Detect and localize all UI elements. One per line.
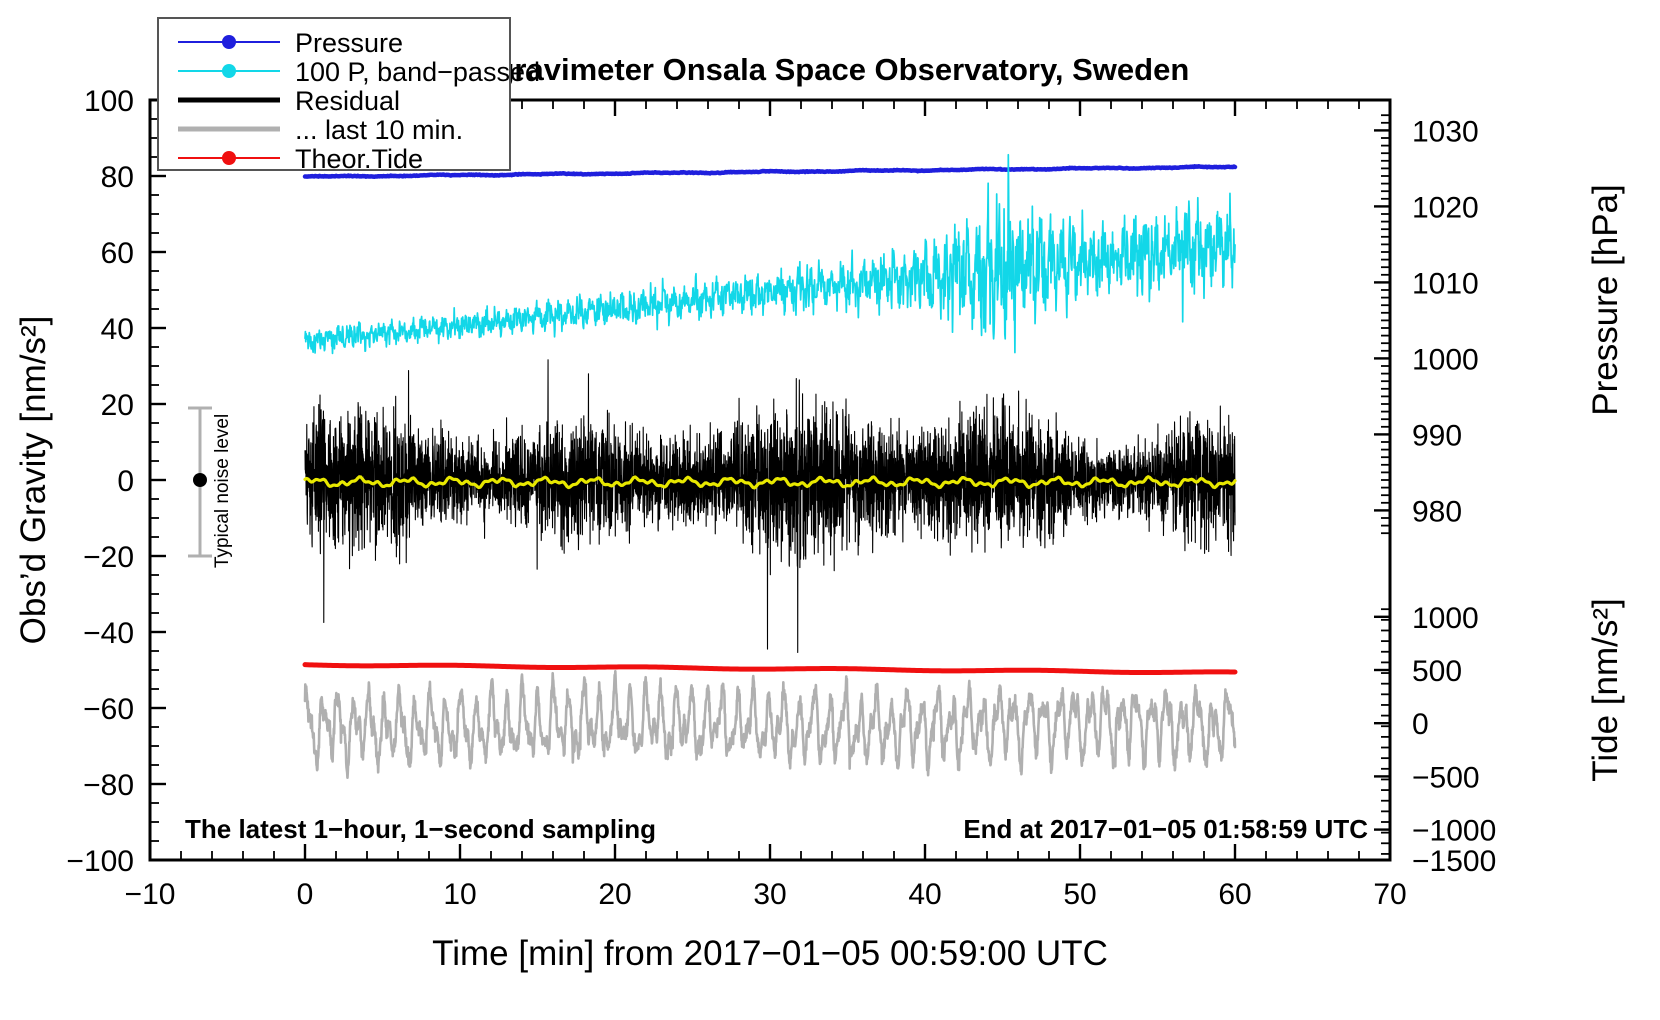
x-tick-label: 50 <box>1063 878 1096 911</box>
tide-axis-title: Tide [nm/s²] <box>1586 598 1625 781</box>
y-tick-label: −40 <box>83 617 134 650</box>
pressure-tick-label: 1030 <box>1412 115 1479 148</box>
y-tick-label: 100 <box>84 85 134 118</box>
y-tick-label: 0 <box>117 465 134 498</box>
gravimeter-chart-figure: −10010203040506070 100806040200−20−40−60… <box>0 0 1660 1020</box>
tide-tick-label: 0 <box>1412 708 1429 741</box>
noise-center-dot <box>193 473 207 487</box>
legend-item-label: Theor.Tide <box>295 144 423 174</box>
y-axis-title: Obs’d Gravity [nm/s²] <box>14 316 53 645</box>
legend-item-label: ... last 10 min. <box>295 115 463 145</box>
pressure-tick-label: 980 <box>1412 495 1462 528</box>
tide-tick-label: 500 <box>1412 655 1462 688</box>
y-tick-label: −60 <box>83 693 134 726</box>
x-tick-label: 0 <box>297 878 314 911</box>
chart-canvas: −10010203040506070 100806040200−20−40−60… <box>0 0 1660 1020</box>
x-tick-label: 20 <box>598 878 631 911</box>
legend-item-label: Pressure <box>295 28 403 58</box>
noise-annotation-label: Typical noise level <box>212 414 233 568</box>
x-tick-label: 60 <box>1218 878 1251 911</box>
y-tick-label: 80 <box>101 161 134 194</box>
x-axis-title: Time [min] from 2017−01−05 00:59:00 UTC <box>432 934 1108 973</box>
legend-swatch-marker <box>222 35 236 49</box>
tide-tick-label: −1000 <box>1412 815 1496 848</box>
pressure-axis-title: Pressure [hPa] <box>1586 184 1625 416</box>
y-tick-label: −100 <box>66 845 134 878</box>
y-tick-label: 40 <box>101 313 134 346</box>
y-tick-label: −80 <box>83 769 134 802</box>
x-tick-label: −10 <box>125 878 176 911</box>
x-tick-label: 70 <box>1373 878 1406 911</box>
legend-item-label: Residual <box>295 86 400 116</box>
y-tick-label: 60 <box>101 237 134 270</box>
chart-legend[interactable]: Pressure100 P, band−passedResidual... la… <box>158 18 540 174</box>
footer-left-text: The latest 1−hour, 1−second sampling <box>185 814 656 844</box>
tide-tick-label: −1500 <box>1412 845 1496 878</box>
x-tick-label: 10 <box>443 878 476 911</box>
tide-tick-label: 1000 <box>1412 602 1479 635</box>
pressure-tick-label: 1000 <box>1412 343 1479 376</box>
y-tick-label: 20 <box>101 389 134 422</box>
footer-right-text: End at 2017−01−05 01:58:59 UTC <box>963 814 1368 844</box>
x-tick-label: 30 <box>753 878 786 911</box>
y-tick-label: −20 <box>83 541 134 574</box>
legend-swatch-marker <box>222 64 236 78</box>
pressure-tick-label: 1020 <box>1412 191 1479 224</box>
x-tick-label: 40 <box>908 878 941 911</box>
pressure-tick-label: 1010 <box>1412 267 1479 300</box>
legend-item-label: 100 P, band−passed <box>295 57 540 87</box>
legend-swatch-marker <box>222 151 236 165</box>
pressure-tick-label: 990 <box>1412 419 1462 452</box>
tide-tick-label: −500 <box>1412 761 1480 794</box>
